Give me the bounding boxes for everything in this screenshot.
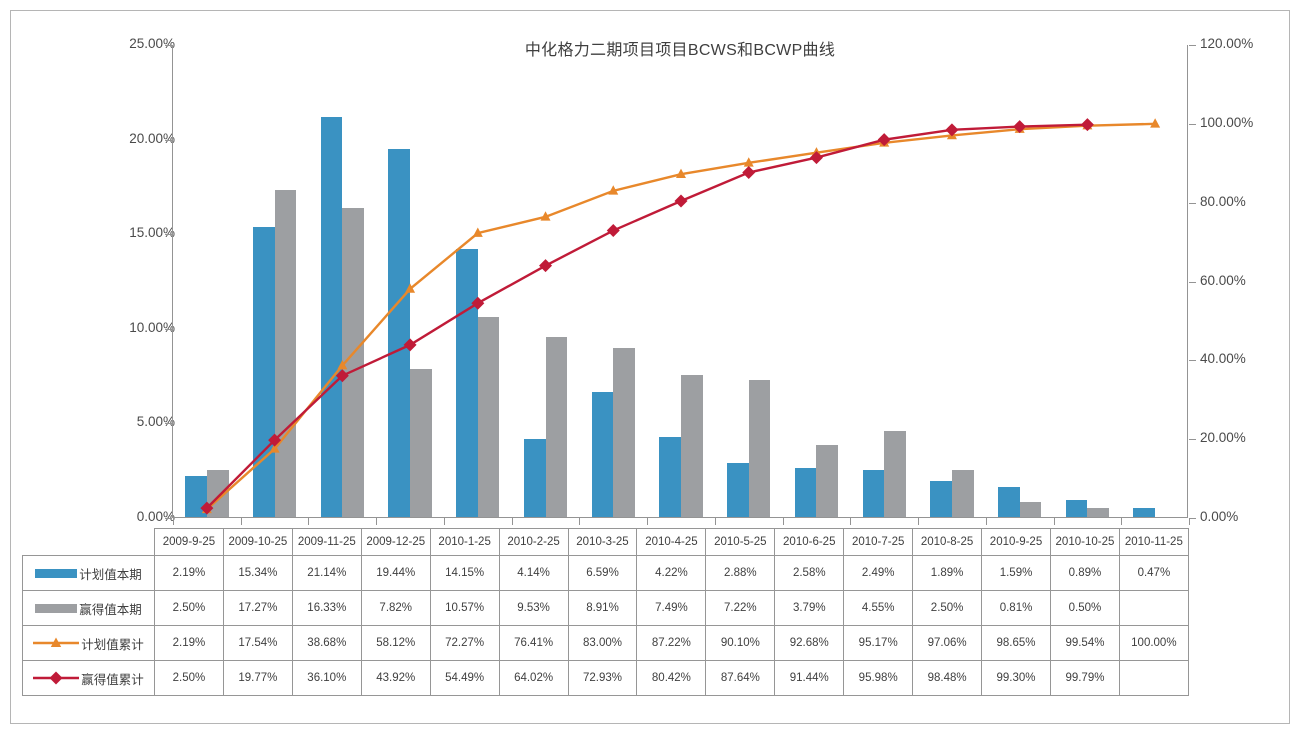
left-axis-tick [165,423,172,424]
right-axis-tick [1189,439,1196,440]
table-row: 计划值本期2.19%15.34%21.14%19.44%14.15%4.14%6… [23,556,1189,591]
table-col-header: 2010-1-25 [430,529,499,556]
table-cell: 4.22% [637,556,706,591]
table-cell: 2.50% [913,591,982,626]
table-col-header: 2009-12-25 [361,529,430,556]
table-col-header: 2010-10-25 [1050,529,1119,556]
table-cell: 80.42% [637,661,706,696]
table-cell: 98.48% [913,661,982,696]
table-col-header: 2009-10-25 [223,529,292,556]
legend-row-3: 计划值累计 [23,626,155,661]
table-cell [1119,591,1188,626]
table-col-header: 2010-8-25 [913,529,982,556]
table-cell: 1.89% [913,556,982,591]
table-col-header: 2009-9-25 [155,529,224,556]
table-col-header: 2010-9-25 [982,529,1051,556]
marker-diamond-icon [675,195,688,208]
table-cell: 4.55% [844,591,913,626]
table-corner-cell [23,529,155,556]
table-cell: 2.19% [155,556,224,591]
table-cell: 3.79% [775,591,844,626]
table-col-header: 2010-5-25 [706,529,775,556]
table-cell: 90.10% [706,626,775,661]
left-axis-tick [165,518,172,519]
table-cell: 19.44% [361,556,430,591]
table-cell: 2.88% [706,556,775,591]
table-col-header: 2010-4-25 [637,529,706,556]
chart-screenshot: 中化格力二期项目项目BCWS和BCWP曲线 0.00%5.00%10.00%15… [0,0,1303,737]
marker-diamond-icon [404,338,417,351]
x-axis-tick [241,518,242,525]
marker-diamond-icon [607,224,620,237]
marker-diamond-icon [742,166,755,179]
table-cell: 8.91% [568,591,637,626]
table-cell: 0.47% [1119,556,1188,591]
table-cell: 87.64% [706,661,775,696]
table-cell: 97.06% [913,626,982,661]
legend-label: 计划值累计 [81,634,144,653]
table-cell: 100.00% [1119,626,1188,661]
table-cell: 99.79% [1050,661,1119,696]
left-axis-tick-label: 25.00% [129,36,175,51]
right-axis-tick-label: 120.00% [1200,36,1253,51]
table-cell: 7.82% [361,591,430,626]
table-header-row: 2009-9-252009-10-252009-11-252009-12-252… [23,529,1189,556]
x-axis-tick [308,518,309,525]
table-cell: 43.92% [361,661,430,696]
x-axis-tick [850,518,851,525]
table-cell: 76.41% [499,626,568,661]
x-axis-tick [376,518,377,525]
x-axis-tick [173,518,174,525]
table-cell: 17.54% [223,626,292,661]
legend-swatch-line-diamond-icon [33,671,79,685]
left-axis-tick-label: 15.00% [129,225,175,240]
x-axis-tick [512,518,513,525]
table-cell: 95.17% [844,626,913,661]
left-axis-tick [165,45,172,46]
table-cell: 92.68% [775,626,844,661]
table-col-header: 2009-11-25 [292,529,361,556]
table-cell: 64.02% [499,661,568,696]
table-cell: 1.59% [982,556,1051,591]
x-axis-tick [783,518,784,525]
table-cell: 99.54% [1050,626,1119,661]
table-cell: 16.33% [292,591,361,626]
legend-swatch-bar-gray-icon [35,604,77,613]
right-axis-tick [1189,45,1196,46]
table-cell: 72.93% [568,661,637,696]
left-axis-tick [165,329,172,330]
table-cell: 99.30% [982,661,1051,696]
right-axis-tick-label: 40.00% [1200,351,1246,366]
x-axis-tick [647,518,648,525]
x-axis-tick [918,518,919,525]
legend-label: 赢得值累计 [81,669,144,688]
right-axis-tick [1189,124,1196,125]
table-cell: 7.22% [706,591,775,626]
marker-diamond-icon [471,297,484,310]
table-cell: 17.27% [223,591,292,626]
x-axis-tick [579,518,580,525]
table-cell: 72.27% [430,626,499,661]
right-axis-tick [1189,518,1196,519]
table-col-header: 2010-11-25 [1119,529,1188,556]
right-axis-tick [1189,203,1196,204]
left-axis-tick [165,140,172,141]
x-axis-tick [1054,518,1055,525]
table-cell: 15.34% [223,556,292,591]
table-cell: 83.00% [568,626,637,661]
right-axis-tick-label: 60.00% [1200,273,1246,288]
legend-row-2: 赢得值本期 [23,591,155,626]
table-cell: 0.50% [1050,591,1119,626]
table-cell: 95.98% [844,661,913,696]
table-cell: 38.68% [292,626,361,661]
table-cell: 98.65% [982,626,1051,661]
right-axis-tick-label: 80.00% [1200,194,1246,209]
table-row: 赢得值本期2.50%17.27%16.33%7.82%10.57%9.53%8.… [23,591,1189,626]
line-series-group [173,45,1189,518]
table-cell: 9.53% [499,591,568,626]
right-axis-tick-label: 100.00% [1200,115,1253,130]
x-axis-tick [1189,518,1190,525]
table-cell: 14.15% [430,556,499,591]
table-cell: 21.14% [292,556,361,591]
table-row: 赢得值累计2.50%19.77%36.10%43.92%54.49%64.02%… [23,661,1189,696]
table-body: 计划值本期2.19%15.34%21.14%19.44%14.15%4.14%6… [23,556,1189,696]
table-cell: 36.10% [292,661,361,696]
table-cell: 4.14% [499,556,568,591]
table-col-header: 2010-2-25 [499,529,568,556]
left-axis-tick-label: 20.00% [129,131,175,146]
table-cell: 2.49% [844,556,913,591]
table-col-header: 2010-3-25 [568,529,637,556]
plot-area [172,45,1188,518]
marker-diamond-icon [1013,120,1026,133]
table-cell: 2.58% [775,556,844,591]
table-col-header: 2010-6-25 [775,529,844,556]
table-cell: 91.44% [775,661,844,696]
legend-label: 计划值本期 [79,564,142,583]
left-axis-tick [165,234,172,235]
left-axis-tick-label: 5.00% [137,414,175,429]
table-cell: 87.22% [637,626,706,661]
table-cell: 2.19% [155,626,224,661]
legend-swatch-bar-blue-icon [35,569,77,578]
table-cell [1119,661,1188,696]
table-cell: 2.50% [155,661,224,696]
table-cell: 19.77% [223,661,292,696]
table-col-header: 2010-7-25 [844,529,913,556]
right-axis-tick [1189,360,1196,361]
table-cell: 7.49% [637,591,706,626]
data-table: 2009-9-252009-10-252009-11-252009-12-252… [22,528,1189,696]
table-cell: 54.49% [430,661,499,696]
line-plan-cumulative [207,124,1155,510]
table-cell: 2.50% [155,591,224,626]
table-cell: 0.81% [982,591,1051,626]
legend-label: 赢得值本期 [79,599,142,618]
left-axis-tick-label: 10.00% [129,320,175,335]
right-axis-tick [1189,282,1196,283]
left-axis-tick-label: 0.00% [137,509,175,524]
table-cell: 10.57% [430,591,499,626]
x-axis-tick [444,518,445,525]
x-axis-tick [1121,518,1122,525]
x-axis-tick [986,518,987,525]
table-cell: 58.12% [361,626,430,661]
table-cell: 0.89% [1050,556,1119,591]
table-row: 计划值累计2.19%17.54%38.68%58.12%72.27%76.41%… [23,626,1189,661]
x-axis-tick [715,518,716,525]
legend-row-1: 计划值本期 [23,556,155,591]
legend-swatch-line-triangle-icon [33,636,79,650]
right-axis-tick-label: 0.00% [1200,509,1238,524]
right-axis-tick-label: 20.00% [1200,430,1246,445]
table-cell: 6.59% [568,556,637,591]
legend-row-4: 赢得值累计 [23,661,155,696]
marker-diamond-icon [539,259,552,272]
